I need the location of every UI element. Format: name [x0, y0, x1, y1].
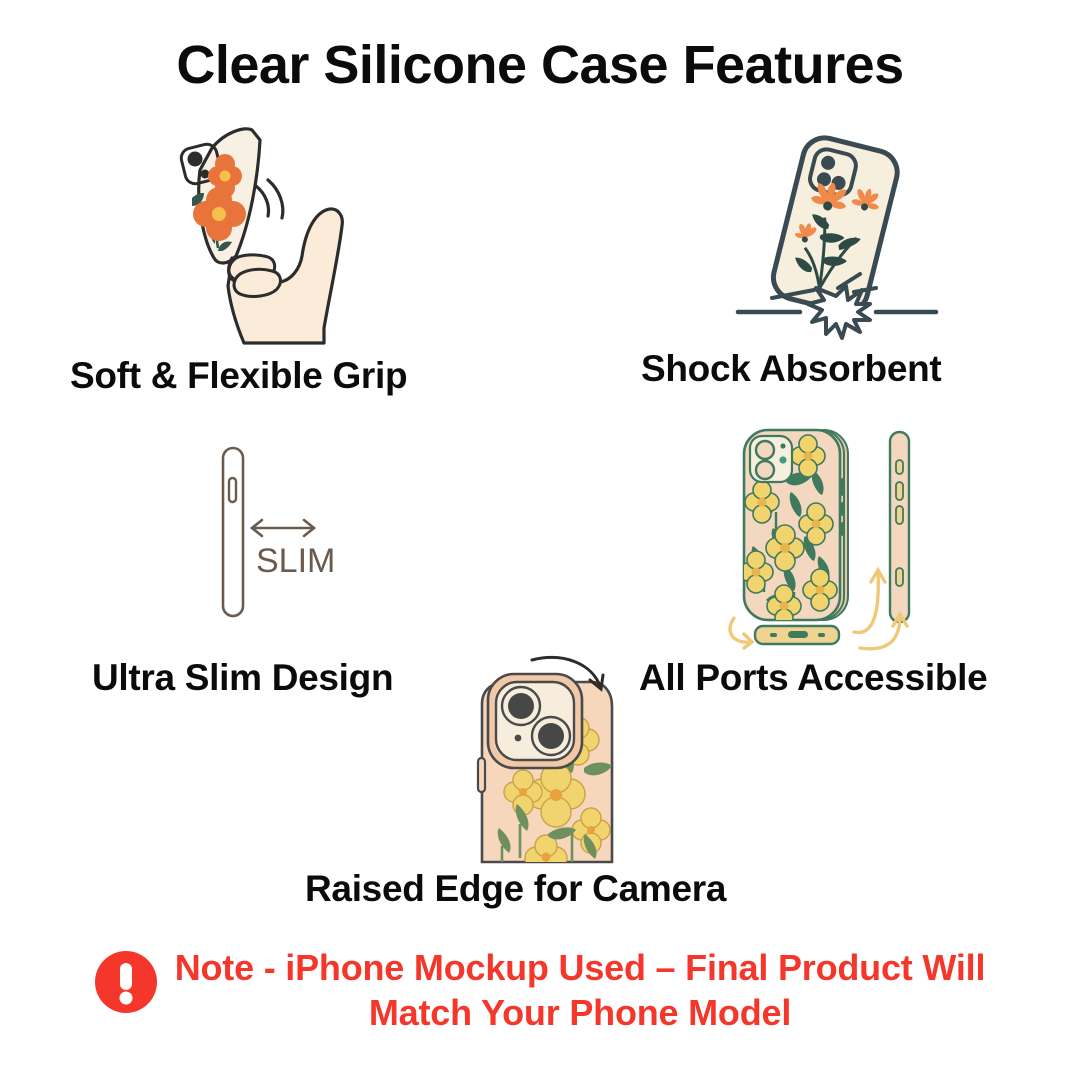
- width-arrow: [252, 520, 314, 536]
- camera-lens-primary: [188, 152, 203, 167]
- camera-lens-primary: [756, 441, 774, 459]
- charging-port: [788, 631, 808, 638]
- camera-mic: [515, 735, 522, 742]
- side-edge-profile: [890, 432, 909, 622]
- bottom-port-strip: [755, 626, 839, 644]
- phone-dropping-impact-icon: [738, 133, 936, 338]
- speaker-hole: [770, 633, 777, 637]
- button-cutout: [896, 506, 903, 524]
- exclamation-circle-icon: [95, 951, 157, 1018]
- note-section: Note - iPhone Mockup Used – Final Produc…: [0, 945, 1080, 1035]
- raised-edge-for-camera-illustration: [452, 662, 647, 862]
- note-text: Note - iPhone Mockup Used – Final Produc…: [175, 945, 986, 1035]
- slim-caption: SLIM: [256, 542, 335, 580]
- note-line-1: Note - iPhone Mockup Used – Final Produc…: [175, 945, 986, 990]
- hand-holding-flexed-phone-case-icon: [179, 129, 342, 343]
- speaker-hole: [818, 633, 825, 637]
- camera-mic: [780, 443, 785, 448]
- motion-arc-inner: [256, 186, 269, 216]
- feature-label-raised-edge-for-camera: Raised Edge for Camera: [305, 868, 726, 910]
- button-cutout: [896, 482, 903, 500]
- feature-label-ultra-slim-design: Ultra Slim Design: [92, 657, 393, 699]
- soft-flexible-grip-illustration: [140, 118, 370, 343]
- camera-lens-secondary: [538, 723, 564, 749]
- page-title: Clear Silicone Case Features: [0, 34, 1080, 96]
- case-body: [769, 133, 902, 316]
- phone-back-side-and-bottom-ports-icon: [730, 430, 909, 649]
- shock-absorbent-illustration: [728, 120, 943, 340]
- all-ports-accessible-illustration: [708, 420, 943, 652]
- ultra-slim-design-illustration: SLIM: [192, 430, 362, 630]
- feature-label-soft-flexible-grip: Soft & Flexible Grip: [70, 355, 407, 397]
- arrow-to-side-edge: [854, 572, 878, 633]
- button-cutout: [896, 568, 903, 586]
- phone-side-profile: [223, 448, 243, 616]
- finger-middle: [234, 269, 280, 296]
- phone-side-profile-slim-icon: SLIM: [223, 448, 335, 616]
- infographic-canvas: Clear Silicone Case Features: [0, 0, 1080, 1080]
- side-button: [478, 758, 485, 792]
- raised-camera-bump-icon: [478, 658, 612, 869]
- camera-lens-secondary: [756, 461, 774, 479]
- button-cutout: [896, 460, 903, 474]
- side-button-cutouts: [841, 478, 845, 536]
- feature-label-all-ports-accessible: All Ports Accessible: [639, 657, 987, 699]
- camera-lens-primary: [508, 693, 534, 719]
- motion-arc-outer: [268, 180, 283, 218]
- note-line-2: Match Your Phone Model: [175, 990, 986, 1035]
- feature-label-shock-absorbent: Shock Absorbent: [641, 348, 941, 390]
- camera-flash: [779, 456, 786, 463]
